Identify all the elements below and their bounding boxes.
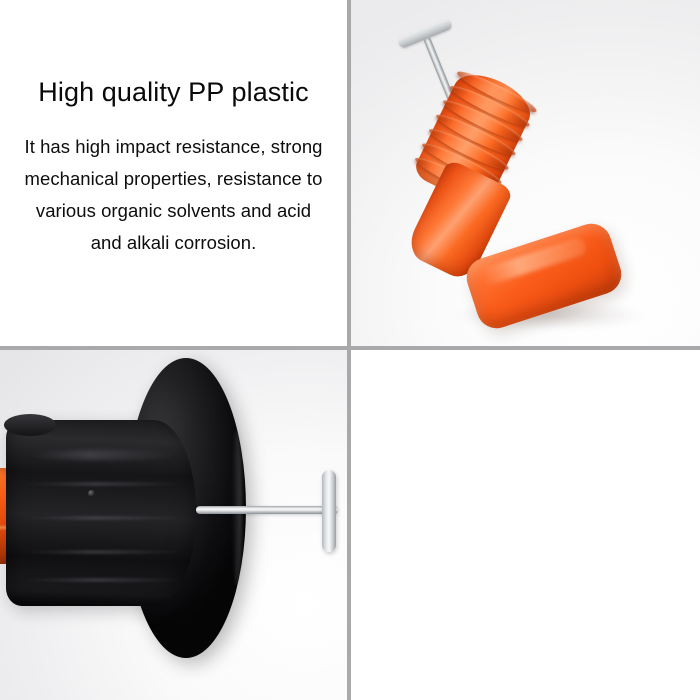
infographic-canvas: High quality PP plastic It has high impa… — [0, 0, 700, 700]
steel-pin-head-bottom-left — [322, 470, 336, 552]
pp-plastic-text-panel: High quality PP plastic It has high impa… — [0, 78, 347, 259]
orange-tool-assembly — [351, 0, 700, 346]
cone-rib — [20, 578, 188, 582]
cone-rib — [20, 550, 188, 554]
pp-plastic-line-4: and alkali corrosion. — [6, 227, 341, 259]
quadrant-top-left-text: High quality PP plastic It has high impa… — [0, 0, 347, 346]
black-ribbed-cone — [6, 420, 196, 606]
base-pad-highlight — [480, 236, 588, 286]
pp-plastic-line-3: various organic solvents and acid — [6, 195, 341, 227]
pp-plastic-description: It has high impact resistance, strong me… — [0, 131, 347, 259]
quadrant-top-right-photo — [351, 0, 700, 346]
pp-plastic-title: High quality PP plastic — [0, 78, 347, 108]
pp-plastic-line-1: It has high impact resistance, strong — [6, 131, 341, 163]
cone-rib — [20, 482, 188, 486]
cone-open-end — [4, 414, 56, 436]
vertical-divider — [347, 0, 351, 700]
cone-top-highlight — [28, 450, 178, 460]
cone-rib — [20, 516, 188, 520]
horizontal-divider — [0, 346, 700, 350]
quadrant-bottom-left-photo — [0, 350, 347, 700]
flange-pin-hole — [88, 490, 95, 497]
steel-pin-shaft-bottom-left — [196, 506, 338, 514]
pp-plastic-line-2: mechanical properties, resistance to — [6, 163, 341, 195]
quadrant-bottom-right-text: High quality stainless steel Heat-resist… — [351, 350, 700, 700]
